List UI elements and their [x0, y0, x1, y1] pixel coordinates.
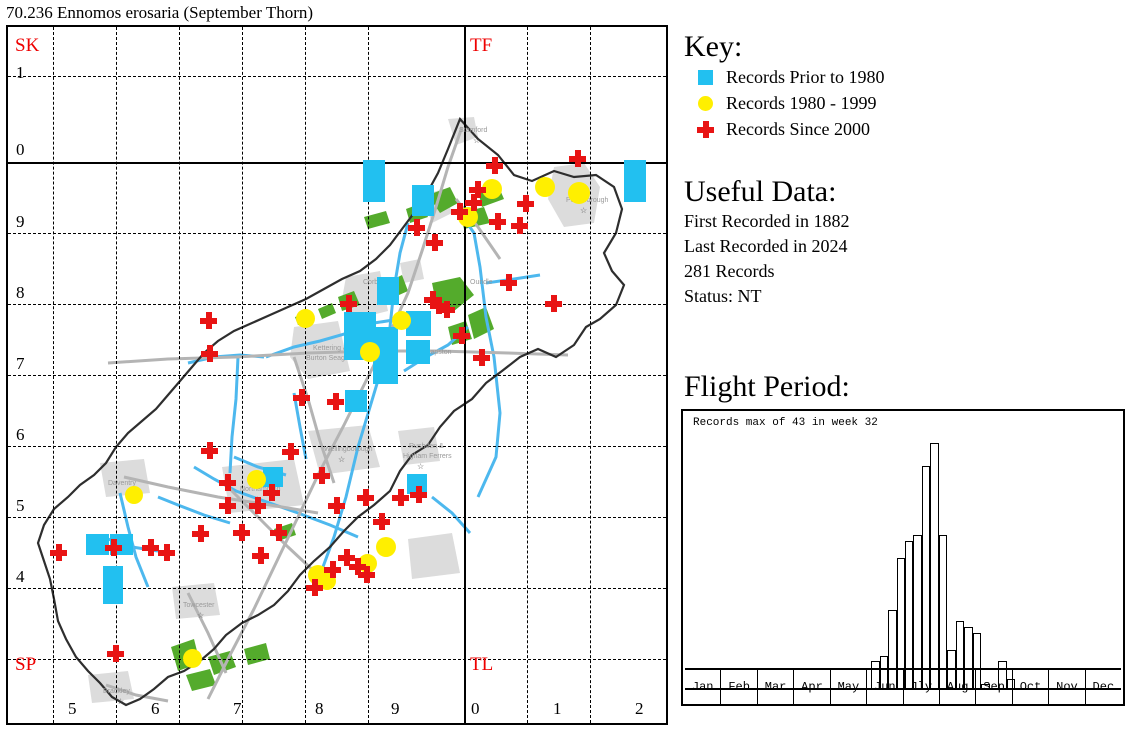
record-marker-since-2000[interactable] [569, 150, 586, 167]
chart-month-label: Dec [1085, 670, 1121, 704]
info-column: Key: Records Prior to 1980 Records 1980 … [676, 25, 1126, 725]
grid-square-label-sk: SK [15, 35, 39, 57]
record-marker-pre-1980[interactable] [103, 566, 123, 604]
place-star-icon: ☆ [197, 612, 204, 620]
county-boundary [38, 119, 624, 705]
cross-red-icon [696, 118, 722, 140]
record-marker-since-2000[interactable] [358, 566, 375, 583]
record-marker-since-2000[interactable] [192, 525, 209, 542]
map-gridline-h [8, 517, 666, 518]
record-marker-since-2000[interactable] [219, 474, 236, 491]
rivers [108, 213, 540, 587]
record-marker-1980-1999[interactable] [296, 309, 315, 328]
record-marker-since-2000[interactable] [328, 497, 345, 514]
chart-month-label: Feb [720, 670, 756, 704]
record-marker-since-2000[interactable] [511, 217, 528, 234]
record-marker-since-2000[interactable] [340, 295, 357, 312]
record-marker-since-2000[interactable] [282, 443, 299, 460]
record-marker-since-2000[interactable] [408, 219, 425, 236]
record-marker-since-2000[interactable] [50, 544, 67, 561]
record-marker-since-2000[interactable] [486, 157, 503, 174]
useful-data-section: Useful Data: First Recorded in 1882 Last… [684, 175, 849, 309]
map-gridline-h [8, 304, 666, 305]
map-gridline-h [8, 233, 666, 234]
key-item-label: Records Prior to 1980 [726, 67, 884, 88]
record-marker-pre-1980[interactable] [412, 185, 434, 216]
chart-bar [930, 443, 938, 690]
record-marker-pre-1980[interactable] [345, 390, 367, 412]
record-marker-1980-1999[interactable] [376, 537, 396, 557]
map-y-tick-7: 7 [16, 354, 25, 374]
map-y-tick-6: 6 [16, 425, 25, 445]
chart-plot-area [685, 431, 1121, 690]
record-marker-since-2000[interactable] [200, 312, 217, 329]
map-gridline-h [8, 76, 666, 77]
place-label: Higham Ferrers [403, 453, 452, 460]
record-marker-since-2000[interactable] [327, 393, 344, 410]
record-marker-since-2000[interactable] [306, 579, 323, 596]
record-marker-since-2000[interactable] [105, 539, 122, 556]
place-label: Rushden & [409, 443, 444, 450]
record-marker-since-2000[interactable] [410, 486, 427, 503]
record-marker-since-2000[interactable] [201, 345, 218, 362]
record-count-line: 281 Records [684, 259, 849, 284]
map-y-tick-5: 5 [16, 496, 25, 516]
flight-period-chart[interactable]: Records max of 43 in week 32 JanFebMarAp… [681, 409, 1125, 706]
map-canvas[interactable]: SK TF SP TL 1 0 9 8 7 6 5 4 5 6 7 8 9 0 … [8, 27, 666, 723]
useful-data-heading: Useful Data: [684, 175, 849, 209]
place-label: Towcester [183, 602, 215, 609]
map-gridline-h [8, 375, 666, 376]
chart-month-label: May [830, 670, 866, 704]
place-label: Kettering & [313, 345, 348, 352]
record-marker-1980-1999[interactable] [535, 177, 555, 197]
record-marker-since-2000[interactable] [249, 497, 266, 514]
record-marker-since-2000[interactable] [219, 497, 236, 514]
map-x-tick-5: 5 [68, 699, 77, 719]
chart-month-label: Nov [1048, 670, 1084, 704]
page-title: 70.236 Ennomos erosaria (September Thorn… [6, 2, 666, 24]
chart-month-label: Jly [903, 670, 939, 704]
record-marker-1980-1999[interactable] [392, 311, 411, 330]
record-marker-since-2000[interactable] [313, 467, 330, 484]
chart-bar [913, 535, 921, 690]
record-marker-since-2000[interactable] [545, 295, 562, 312]
record-marker-since-2000[interactable] [142, 539, 159, 556]
place-label: Wellingborough [324, 446, 373, 453]
chart-month-label: Aug [939, 670, 975, 704]
record-marker-since-2000[interactable] [201, 442, 218, 459]
record-marker-since-2000[interactable] [233, 524, 250, 541]
chart-month-label: Jun [866, 670, 902, 704]
chart-bar [939, 535, 947, 690]
record-marker-since-2000[interactable] [489, 213, 506, 230]
key-item-pre-1980: Records Prior to 1980 [696, 64, 884, 90]
place-star-icon: ☆ [117, 698, 124, 706]
chart-bar [922, 466, 930, 690]
chart-caption: Records max of 43 in week 32 [693, 417, 878, 429]
grid-square-label-sp: SP [15, 654, 36, 676]
record-marker-since-2000[interactable] [500, 274, 517, 291]
chart-month-label: Sep [975, 670, 1011, 704]
record-marker-since-2000[interactable] [357, 489, 374, 506]
place-star-icon: ☆ [473, 137, 480, 145]
record-marker-since-2000[interactable] [373, 513, 390, 530]
record-marker-pre-1980[interactable] [363, 160, 385, 202]
key-section: Key: Records Prior to 1980 Records 1980 … [684, 30, 884, 142]
record-marker-since-2000[interactable] [293, 389, 310, 406]
key-item-label: Records Since 2000 [726, 119, 870, 140]
key-item-since-2000: Records Since 2000 [696, 116, 884, 142]
place-star-icon: ☆ [417, 463, 424, 471]
record-marker-1980-1999[interactable] [360, 342, 380, 362]
record-marker-1980-1999[interactable] [568, 182, 590, 204]
place-star-icon: ☆ [580, 207, 587, 215]
record-marker-1980-1999[interactable] [183, 649, 202, 668]
chart-month-label: Oct [1012, 670, 1048, 704]
chart-month-label: Jan [685, 670, 720, 704]
map-y-tick-9: 9 [16, 212, 25, 232]
map-y-tick-1: 1 [16, 63, 25, 83]
place-star-icon: ☆ [338, 456, 345, 464]
record-marker-since-2000[interactable] [158, 544, 175, 561]
record-marker-1980-1999[interactable] [125, 486, 143, 504]
map-x-tick-9: 9 [391, 699, 400, 719]
map-x-tick-8: 8 [315, 699, 324, 719]
chart-month-label: Apr [793, 670, 829, 704]
last-recorded-line: Last Recorded in 2024 [684, 234, 849, 259]
record-marker-pre-1980[interactable] [624, 160, 646, 202]
record-marker-pre-1980[interactable] [406, 340, 430, 364]
record-marker-since-2000[interactable] [465, 194, 482, 211]
record-marker-since-2000[interactable] [252, 547, 269, 564]
record-marker-since-2000[interactable] [473, 349, 490, 366]
record-marker-since-2000[interactable] [324, 561, 341, 578]
map-x-tick-1: 1 [553, 699, 562, 719]
chart-month-label: Mar [757, 670, 793, 704]
record-marker-since-2000[interactable] [438, 301, 455, 318]
square-cyan-icon [696, 66, 722, 88]
first-recorded-line: First Recorded in 1882 [684, 209, 849, 234]
place-label: Stamford [459, 127, 487, 134]
map-y-tick-8: 8 [16, 283, 25, 303]
chart-month-axis: JanFebMarAprMayJunJlyAugSepOctNovDec [685, 668, 1121, 704]
place-label: Brackley [103, 688, 130, 695]
map-y-tick-4: 4 [16, 567, 25, 587]
flight-period-heading: Flight Period: [684, 370, 850, 404]
record-marker-since-2000[interactable] [392, 489, 409, 506]
record-marker-pre-1980[interactable] [377, 277, 399, 305]
distribution-map-panel[interactable]: SK TF SP TL 1 0 9 8 7 6 5 4 5 6 7 8 9 0 … [6, 25, 668, 725]
status-line: Status: NT [684, 284, 849, 309]
record-marker-since-2000[interactable] [270, 524, 287, 541]
key-item-1980-1999: Records 1980 - 1999 [696, 90, 884, 116]
key-heading: Key: [684, 30, 884, 64]
record-marker-since-2000[interactable] [517, 195, 534, 212]
record-marker-since-2000[interactable] [453, 327, 470, 344]
key-item-label: Records 1980 - 1999 [726, 93, 876, 114]
map-y-tick-0: 0 [16, 140, 25, 160]
record-marker-since-2000[interactable] [107, 645, 124, 662]
map-x-tick-7: 7 [233, 699, 242, 719]
grid-square-label-tl: TL [470, 654, 493, 676]
map-x-tick-6: 6 [151, 699, 160, 719]
circle-yellow-icon [696, 92, 722, 114]
map-gridline-100km-horizontal [8, 162, 666, 164]
record-marker-since-2000[interactable] [426, 234, 443, 251]
map-x-tick-0: 0 [471, 699, 480, 719]
place-label: Oundle [470, 279, 493, 286]
map-x-tick-2: 2 [635, 699, 644, 719]
grid-square-label-tf: TF [470, 35, 492, 57]
